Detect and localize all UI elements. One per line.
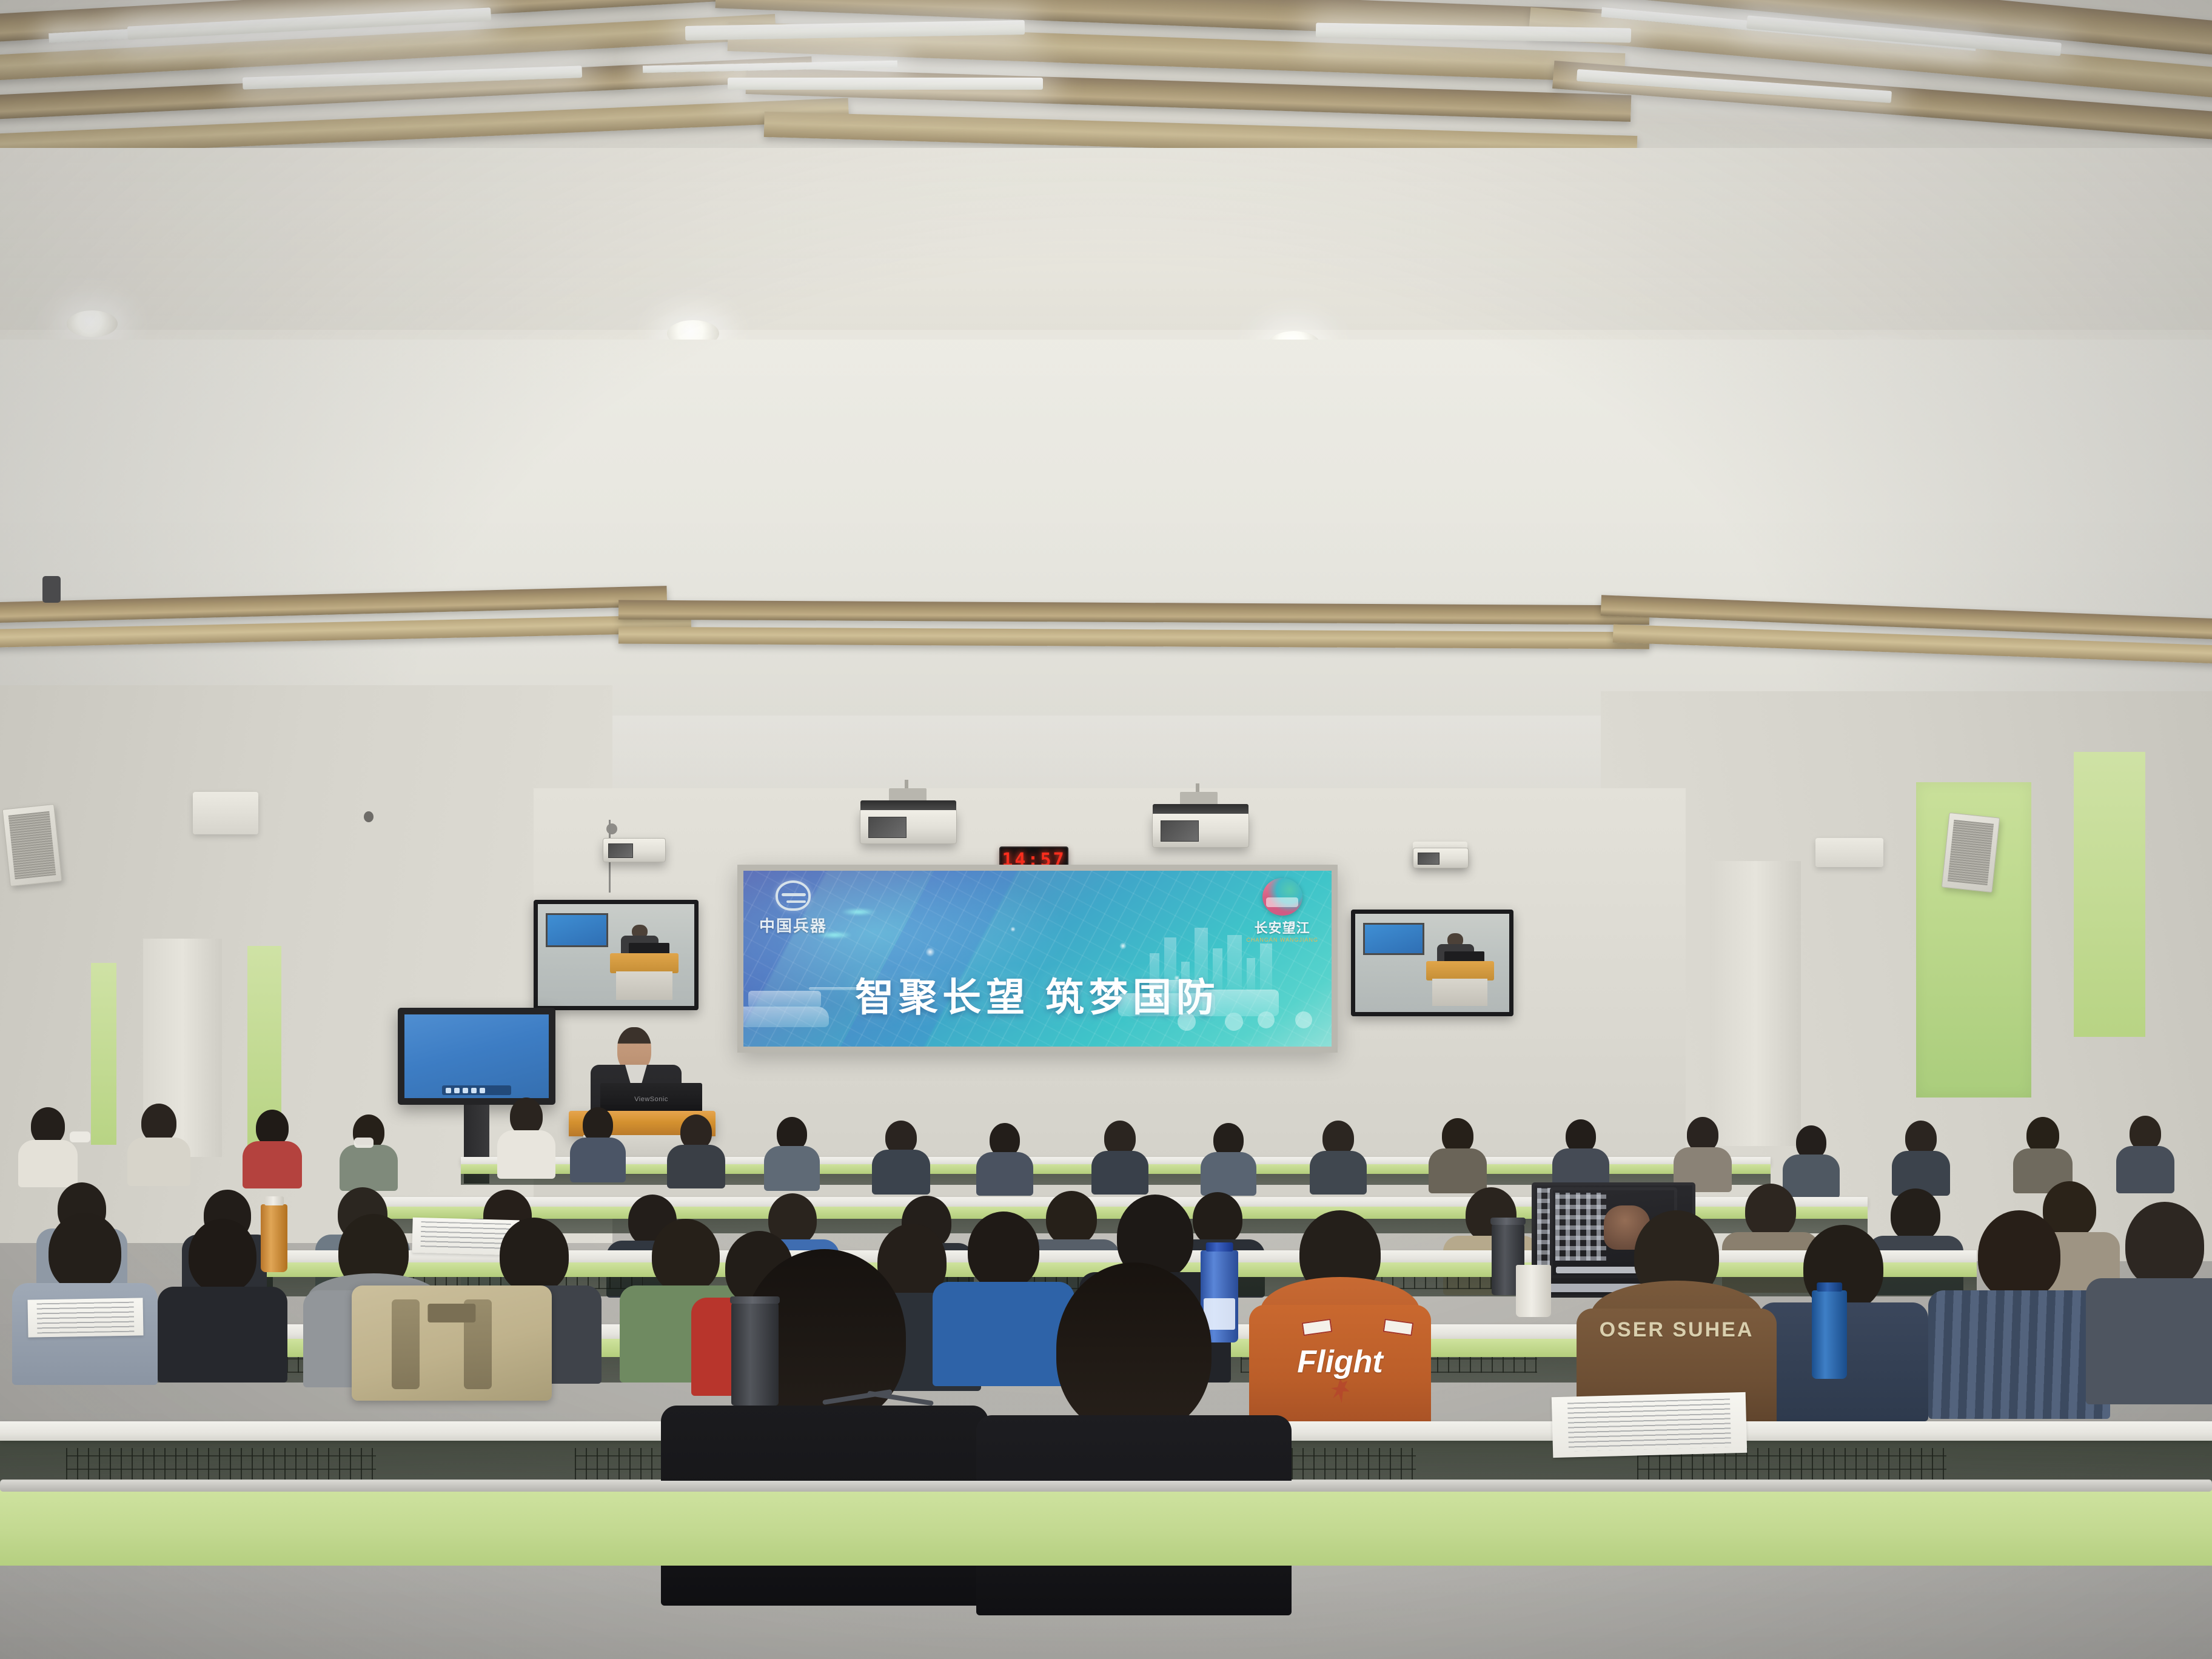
person-head: [1978, 1210, 2060, 1300]
person-body: [158, 1287, 287, 1382]
open-book-foreground[interactable]: [1552, 1392, 1748, 1458]
person-body: [497, 1130, 555, 1179]
audience-member: [127, 1104, 190, 1184]
ceiling-sensor: [42, 576, 61, 603]
person-body: [127, 1138, 190, 1186]
wall-speaker-left: [2, 804, 62, 886]
text-lines: [37, 1302, 134, 1333]
audience-member: [18, 1107, 78, 1185]
slide-glow-streak: [840, 908, 877, 916]
audience-member-striped: [1928, 1210, 2110, 1416]
person-body: [1201, 1152, 1256, 1196]
person-head: [510, 1098, 543, 1135]
paper-cup[interactable]: [1516, 1265, 1551, 1317]
wall-pillar-right: [1710, 861, 1801, 1146]
ceiling-smoke-detector: [606, 823, 617, 834]
person-body-striped: [1928, 1290, 2110, 1419]
ceiling-projector-far-right: [1413, 848, 1469, 868]
projector-top-cover: [1153, 804, 1248, 814]
side-monitor-left: [534, 900, 699, 1010]
thermos-flask-foreground[interactable]: [731, 1302, 779, 1406]
backpack[interactable]: [352, 1285, 552, 1401]
speaker-grille: [1948, 820, 1994, 886]
notebook-page[interactable]: [27, 1298, 143, 1337]
person-head: [1056, 1262, 1212, 1435]
taskbar-icon-browser[interactable]: [454, 1088, 460, 1093]
china-ordnance-mark-icon: [776, 880, 811, 911]
person-body: [18, 1140, 78, 1187]
person-body: [976, 1152, 1033, 1196]
hoodie-raised-letters: OSER SUHEA: [1577, 1318, 1777, 1342]
slide-bokeh: [1010, 927, 1016, 932]
person-head: [500, 1218, 569, 1293]
ceiling-dome-sensor: [364, 811, 374, 822]
person-head: [256, 1110, 289, 1146]
feed-lectern-base: [1432, 979, 1487, 1006]
linear-light-fixture: [728, 78, 1043, 90]
projector-lens: [1418, 853, 1439, 865]
front-desk-green-panel: [0, 1487, 2212, 1566]
person-head: [141, 1104, 176, 1142]
wall-display-screen[interactable]: [404, 1014, 549, 1098]
ceiling-projector-right: [1152, 813, 1249, 848]
projector-lens: [868, 817, 907, 838]
thermos-lid[interactable]: [1490, 1218, 1525, 1225]
china-ordnance-label: 中国兵器: [759, 914, 827, 936]
backpack-strap: [392, 1299, 420, 1389]
thermos-lid[interactable]: [730, 1296, 780, 1304]
person-body: [1310, 1151, 1367, 1195]
audience-member: [1674, 1117, 1732, 1190]
audience-member: [1892, 1121, 1950, 1193]
under-desk-basket: [66, 1448, 376, 1483]
vehicle-wheel: [1295, 1011, 1312, 1028]
person-body: [2116, 1146, 2174, 1193]
feed-wall-tv: [1363, 923, 1425, 955]
bottle-cap[interactable]: [1817, 1282, 1842, 1292]
audience-member: [872, 1121, 930, 1192]
slide-main-title: 创造犀利的武器 争取国防的安宁: [743, 1045, 1332, 1047]
person-body: [570, 1138, 626, 1182]
vehicle-body: [1118, 993, 1215, 1016]
wall-accent-strip-left2: [91, 963, 116, 1145]
audience-member: [2116, 1116, 2174, 1191]
wall-ac-vent-left: [193, 792, 258, 834]
person-head: [189, 1219, 256, 1293]
projection-screen: 中国兵器 长安望江 CHANGAN WANGJIANG 智聚长望 筑梦国防 创造…: [743, 871, 1332, 1047]
projector-top-cover: [860, 800, 956, 810]
changan-wangjiang-badge-icon: [1262, 878, 1302, 916]
front-desk-rail: [0, 1481, 2212, 1492]
audience-member: [2013, 1117, 2073, 1191]
vehicle-wheel: [1178, 1013, 1196, 1031]
vehicle-wheel: [1258, 1011, 1275, 1028]
person-body: [764, 1146, 820, 1191]
person-head: [49, 1213, 121, 1292]
side-monitor-screen: [538, 904, 694, 1006]
taskbar-icon-app[interactable]: [471, 1088, 477, 1093]
audience-member: [158, 1219, 287, 1374]
wall-display-taskbar[interactable]: [442, 1085, 511, 1095]
projector-lens: [1161, 820, 1199, 842]
bottle-cap[interactable]: [1206, 1242, 1233, 1252]
ceiling-projector-left: [860, 809, 957, 844]
wall-speaker-right: [1942, 813, 2000, 893]
audience-member: [1201, 1123, 1256, 1193]
feed-lectern: [1426, 961, 1494, 980]
wall-ac-vent-right: [1815, 838, 1883, 867]
text-lines: [1567, 1398, 1732, 1451]
face-mask: [354, 1138, 374, 1148]
audience-member: [1429, 1118, 1487, 1191]
person-body: [667, 1145, 725, 1188]
side-monitor-right: [1351, 910, 1513, 1016]
ceiling-panel: [0, 148, 2212, 330]
projector-lens: [608, 843, 633, 858]
recessed-downlight: [67, 310, 118, 337]
speaker-grille: [8, 811, 56, 879]
slide-logo-china-ordnance: 中国兵器: [759, 880, 827, 936]
audience-member: [1091, 1121, 1148, 1192]
person-body: [340, 1145, 398, 1191]
audience-member: [976, 1123, 1033, 1193]
wall-mounted-display[interactable]: [398, 1008, 555, 1105]
vehicle-turret: [748, 991, 821, 1008]
slide-amphibious-vehicle-graphic: [759, 986, 899, 1034]
person-head: [31, 1107, 65, 1145]
lecture-hall-photo: Hisense: [0, 0, 2212, 1659]
audience-member: [243, 1110, 302, 1186]
side-monitor-screen: [1355, 914, 1509, 1012]
vehicle-hull: [743, 1007, 829, 1027]
person-body: [1091, 1151, 1148, 1195]
person-body: [2086, 1278, 2212, 1404]
lectern-monitor-brand: ViewSonic: [600, 1096, 702, 1103]
audience-member-brown-hoodie: OSER SUHEA: [1577, 1214, 1777, 1420]
audience-member-edge-right: [2086, 1202, 2212, 1402]
audience-member: [340, 1114, 398, 1190]
feed-wall-tv: [546, 913, 608, 947]
audience-member: [1552, 1119, 1609, 1191]
person-head: [2125, 1202, 2204, 1288]
person-body: [872, 1150, 930, 1195]
taskbar-icon-start[interactable]: [446, 1088, 451, 1093]
ceiling-projector-far-left: [603, 838, 666, 862]
person-body: [1429, 1148, 1487, 1193]
audience-member: [497, 1098, 555, 1176]
audience-member: [764, 1117, 820, 1188]
projection-screen-frame: 中国兵器 长安望江 CHANGAN WANGJIANG 智聚长望 筑梦国防 创造…: [737, 865, 1338, 1053]
wall-accent-strip-right: [2074, 752, 2145, 1037]
water-bottle[interactable]: [1812, 1290, 1847, 1379]
face-mask: [70, 1131, 90, 1142]
person-body: [243, 1141, 302, 1188]
feed-lectern: [610, 953, 679, 974]
audience-member: [667, 1114, 725, 1186]
audience-member: [570, 1107, 626, 1180]
vehicle-gun: [809, 987, 867, 990]
person-head: [2026, 1117, 2059, 1153]
taskbar-icon-media[interactable]: [480, 1088, 485, 1093]
backpack-buckle: [427, 1304, 475, 1322]
slide-bokeh: [1119, 942, 1127, 950]
taskbar-icon-folder[interactable]: [463, 1088, 468, 1093]
audience-member-denim: [12, 1213, 158, 1376]
audience-member: [1310, 1121, 1367, 1192]
slide-bokeh: [925, 947, 935, 957]
bottle-cap[interactable]: [264, 1196, 284, 1205]
feed-lectern-base: [616, 971, 672, 1000]
slide-city-skyline-graphic: [1150, 924, 1289, 991]
